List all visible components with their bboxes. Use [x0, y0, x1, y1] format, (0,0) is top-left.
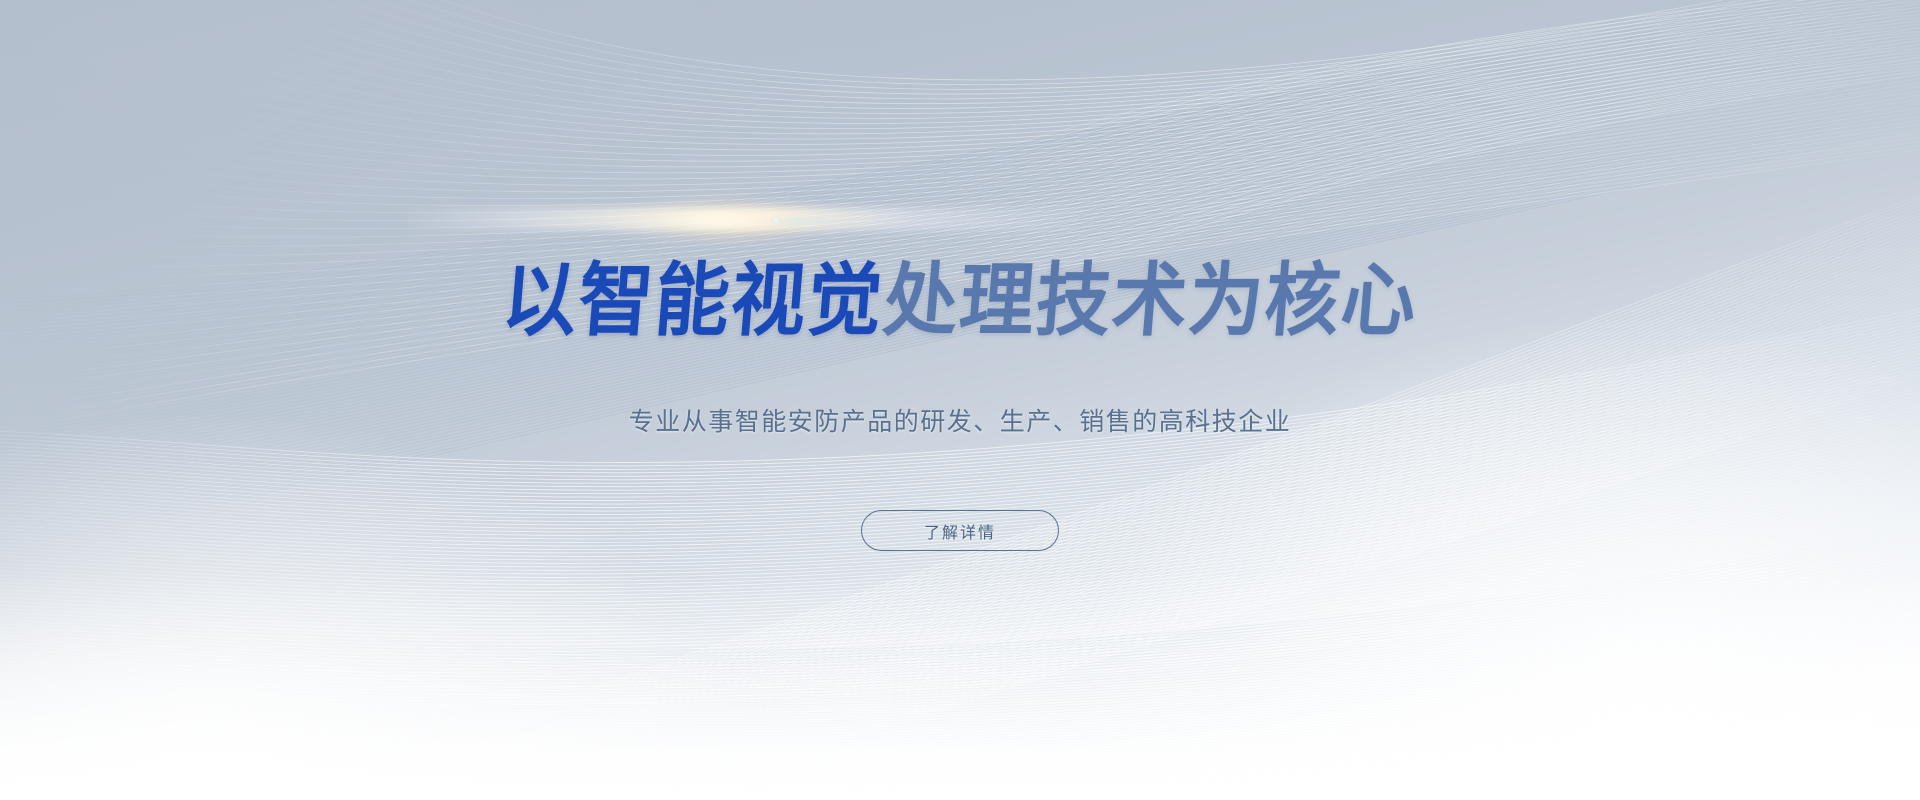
hero-subtitle: 专业从事智能安防产品的研发、生产、销售的高科技企业 [0, 404, 1920, 440]
cta-container: 了解详情 [0, 510, 1920, 551]
headline-primary-segment: 以智能视觉 [499, 254, 888, 347]
hero-headline: 以智能视觉处理技术为核心 [64, 258, 1857, 344]
headline-secondary-segment: 处理技术为核心 [880, 254, 1421, 347]
hero-content: 以智能视觉处理技术为核心 专业从事智能安防产品的研发、生产、销售的高科技企业 了… [0, 0, 1920, 800]
hero-banner: 以智能视觉处理技术为核心 专业从事智能安防产品的研发、生产、销售的高科技企业 了… [0, 0, 1920, 800]
learn-more-button[interactable]: 了解详情 [861, 510, 1059, 551]
